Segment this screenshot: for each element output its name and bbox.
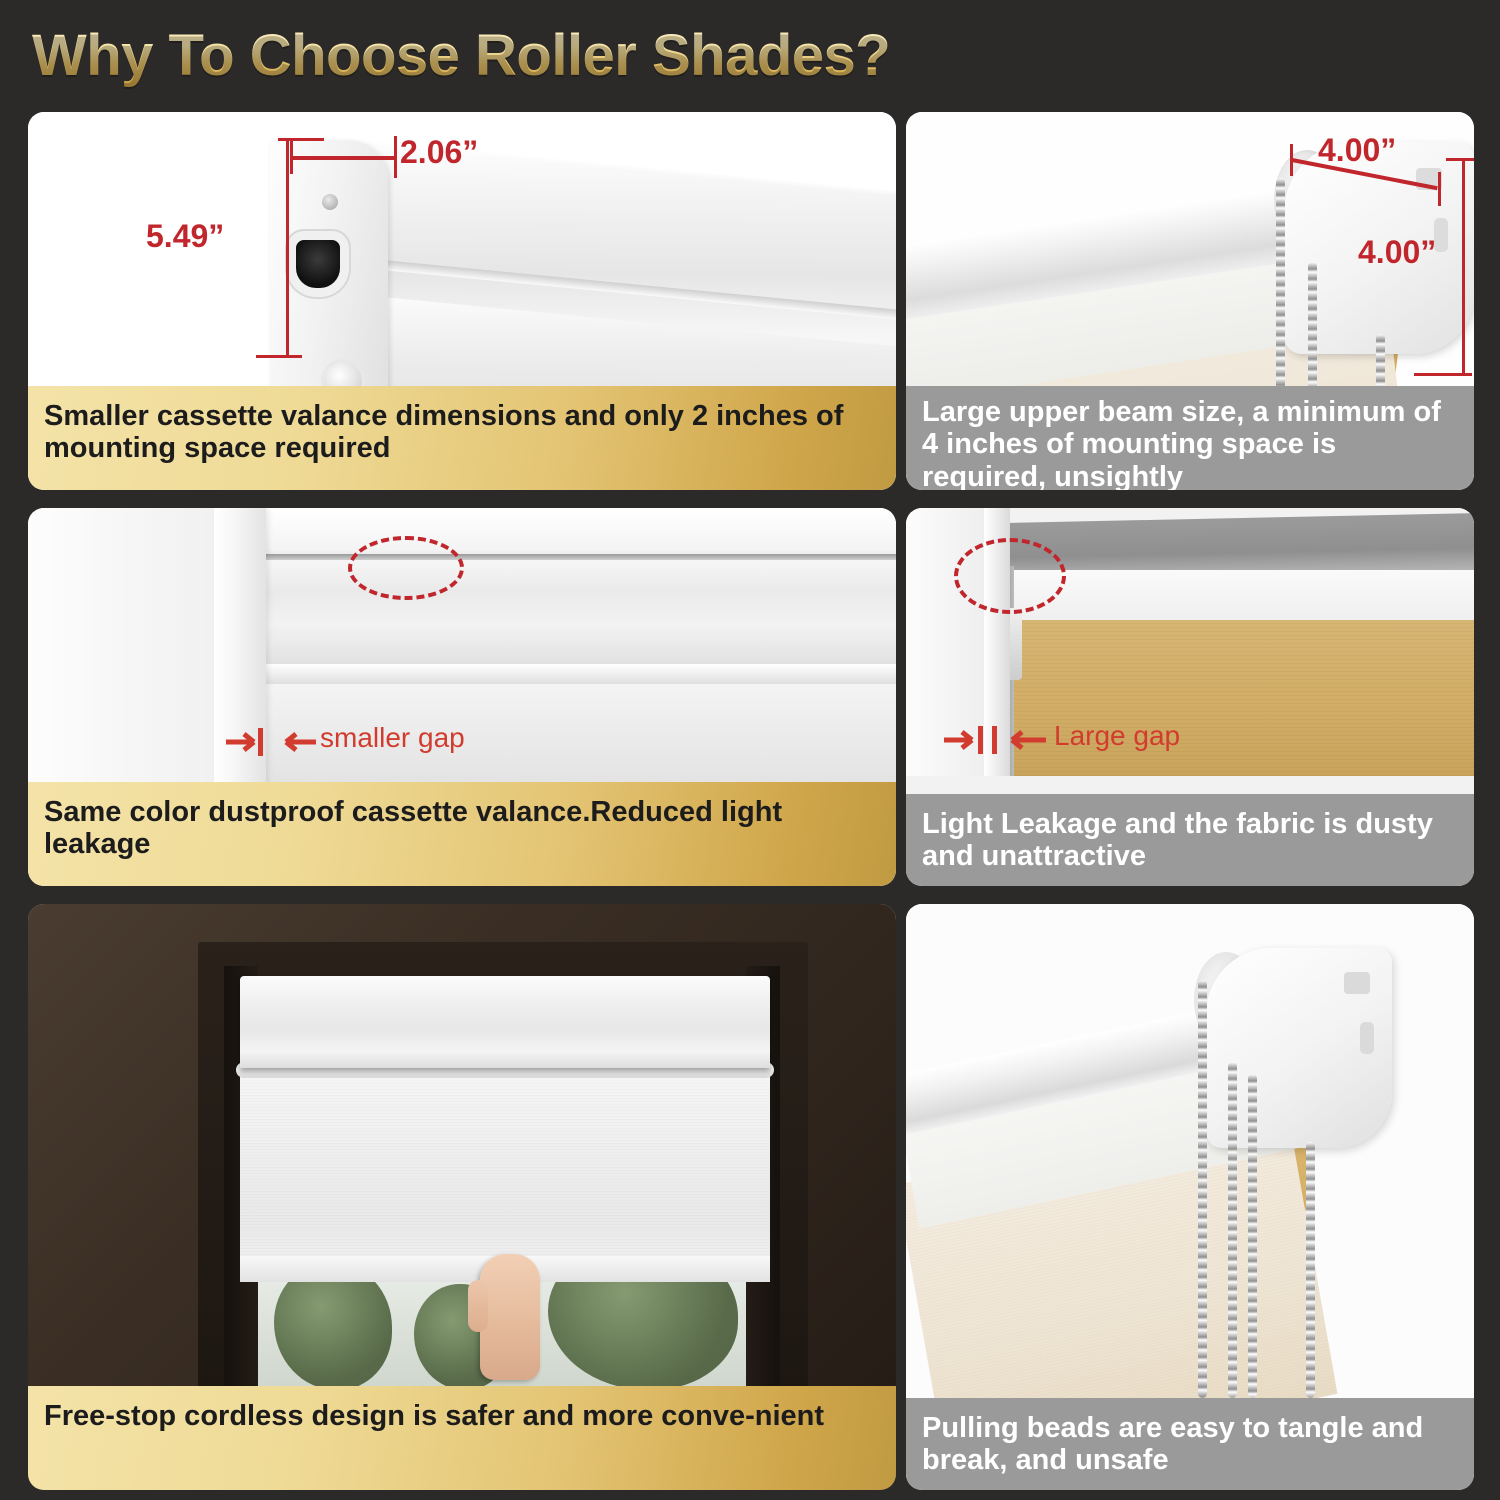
panel-4-caption: Light Leakage and the fabric is dusty an… [906,794,1474,886]
panel-dustproof-cassette-valance: smaller gap Same color dustproof cassett… [28,508,896,886]
hand-pulling-shade [480,1254,540,1380]
bracket-slot-lower-icon [1360,1022,1374,1054]
panel-1-caption: Smaller cassette valance dimensions and … [28,386,896,490]
white-fabric-strip [1006,570,1474,622]
bead-chain-right [1306,1142,1315,1398]
dusty-beige-fabric [1014,620,1474,776]
panel-free-stop-cordless-design: Free-stop cordless design is safer and m… [28,904,896,1490]
gap-arrow-icons [224,722,344,762]
bracket-slot-upper-icon [1344,972,1370,994]
wall-left-surface [28,508,224,786]
height-dim-tick-bottom [256,355,302,358]
panel-small-cassette-valance: 2.06” 5.49” Smaller cassette valance dim… [28,112,896,490]
valance-bottom-rail [250,664,896,686]
gap-arrow-icons [942,720,1062,760]
bead-chain-inner [1248,1074,1257,1398]
height-dimension-label: 5.49” [146,218,224,255]
width-dim-tick-right [394,136,397,178]
beam-width-tick-right [1438,172,1441,206]
beam-width-label: 4.00” [1318,132,1396,169]
beam-height-label: 4.00” [1358,234,1436,271]
roller-shade-fabric [240,1076,770,1282]
width-dim-line [290,156,396,160]
beam-height-tick-top [1446,158,1474,161]
beam-height-tick-bottom [1414,373,1472,376]
panel-2-caption: Large upper beam size, a minimum of 4 in… [906,386,1474,490]
large-gap-label: Large gap [1054,720,1180,752]
panel-grid: 2.06” 5.49” Smaller cassette valance dim… [0,112,1500,1500]
bead-chain-left [1198,980,1207,1398]
panel-5-caption: Free-stop cordless design is safer and m… [28,1386,896,1490]
height-dim-line [286,138,289,358]
width-dimension-label: 2.06” [400,134,478,171]
cassette-valance [240,976,770,1068]
cassette-roller-socket-icon [296,240,340,288]
gap-highlight-ellipse [348,536,464,600]
width-dim-tick-left [290,140,293,174]
height-dim-tick-top [278,138,324,141]
beam-height-dim-line [1462,158,1465,376]
cassette-top-screw-icon [322,194,338,210]
beam-width-tick-left [1290,144,1293,176]
bead-chain-middle [1228,1062,1237,1398]
gap-highlight-ellipse [954,538,1066,614]
hand-thumb [468,1280,488,1332]
panel-3-caption: Same color dustproof cassette valance.Re… [28,782,896,886]
infographic-root: Why To Choose Roller Shades? 2.06” [0,0,1500,1500]
panel-pulling-beads-tangle: Pulling beads are easy to tangle and bre… [906,904,1474,1490]
panel-6-caption: Pulling beads are easy to tangle and bre… [906,1398,1474,1490]
page-title: Why To Choose Roller Shades? [32,22,890,89]
panel-light-leakage-dusty-fabric: Large gap Light Leakage and the fabric i… [906,508,1474,886]
panel-large-upper-beam: 4.00” 4.00” Large upper beam size, a min… [906,112,1474,490]
